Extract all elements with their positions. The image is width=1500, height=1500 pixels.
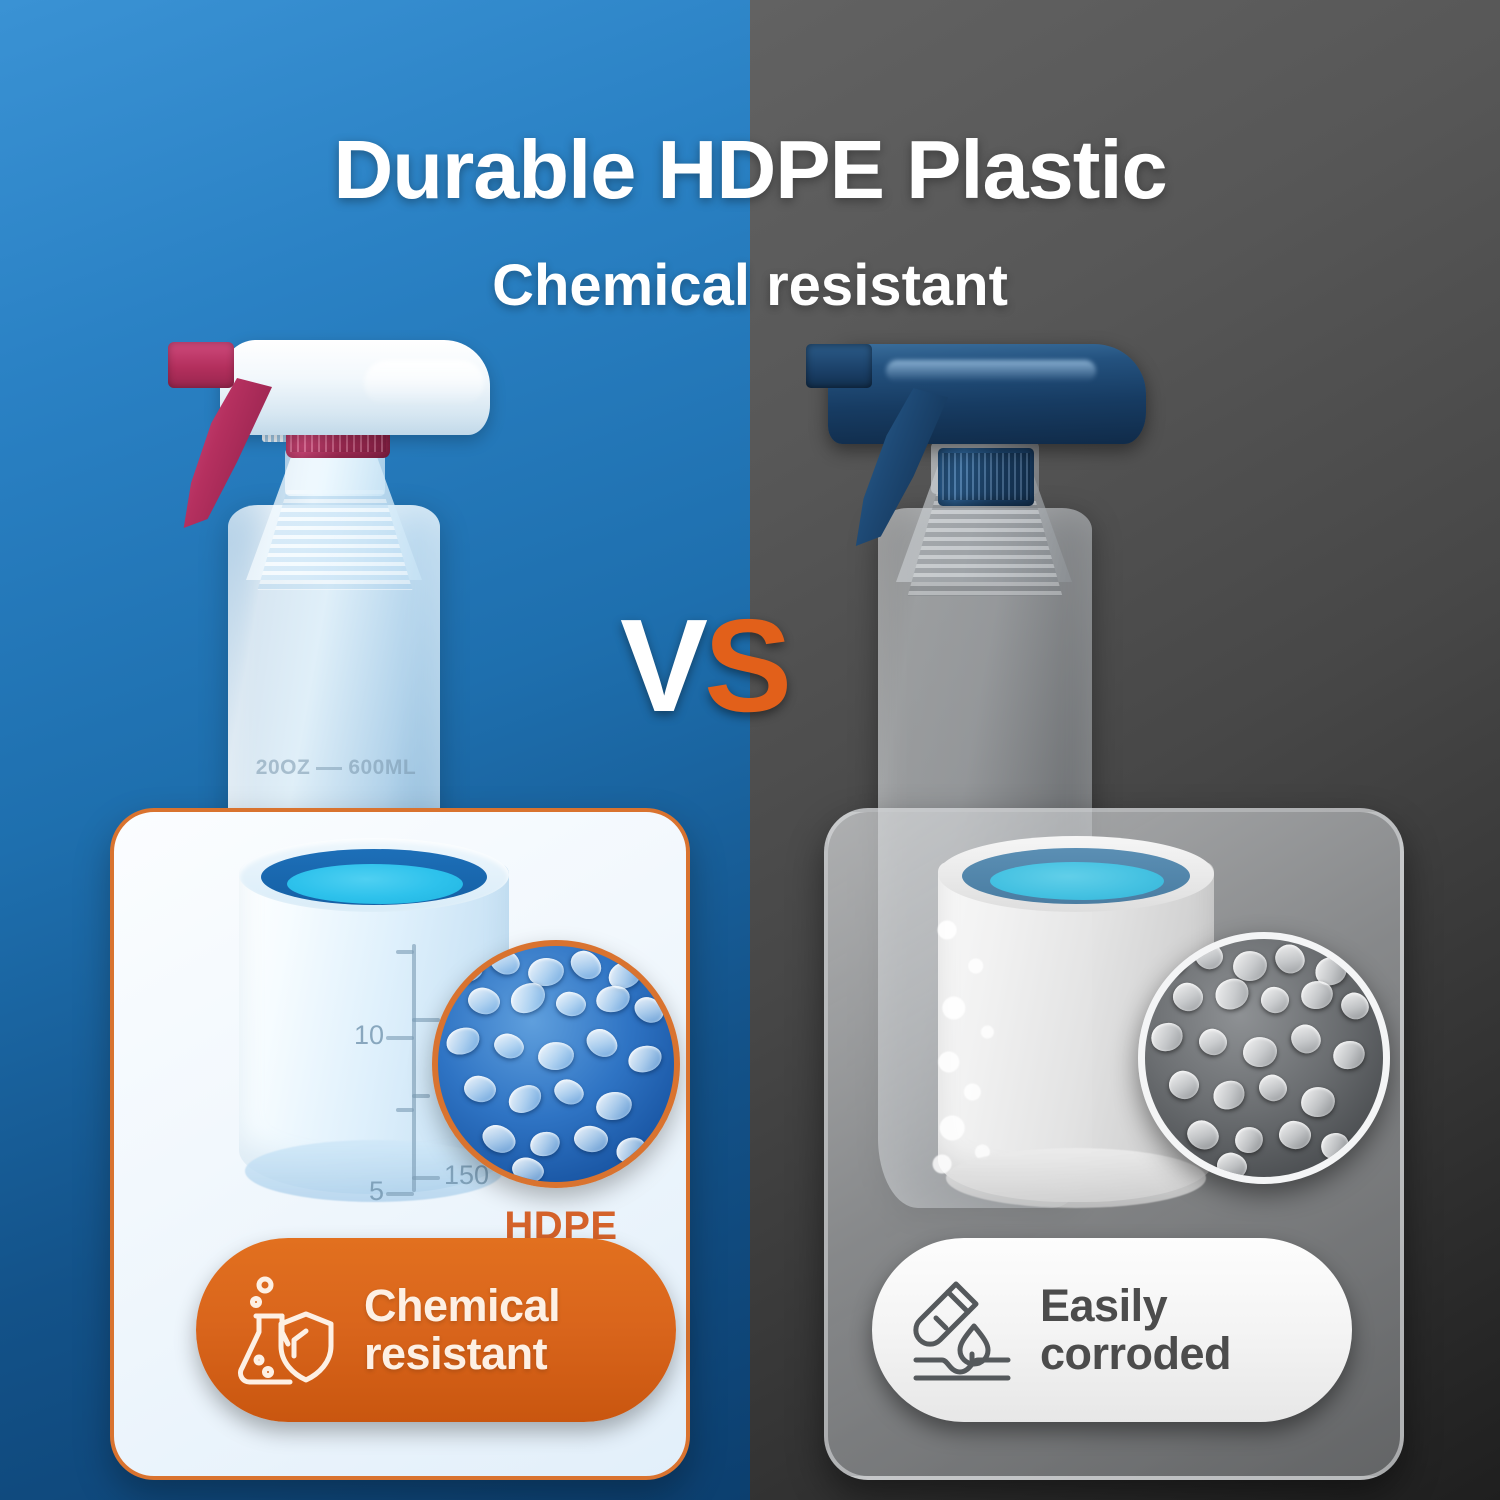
cylinder-base [946, 1148, 1206, 1208]
scale-tick [396, 950, 414, 954]
sprayer-head [828, 344, 1146, 444]
emboss-divider-icon [316, 767, 342, 770]
versus-s: S [704, 592, 788, 739]
badge-line-1: Easily [1040, 1282, 1231, 1330]
page-subtitle: Chemical resistant [0, 252, 1500, 319]
hdpe-pellet-magnifier [432, 940, 680, 1188]
scale-label-ml-150: 150 [444, 1160, 489, 1191]
badge-line-1: Chemical [364, 1282, 560, 1330]
sprayer-nozzle [806, 344, 872, 388]
scale-tick [412, 1176, 440, 1180]
bottle-capacity-emboss: 20OZ 600ML [236, 754, 436, 782]
scale-tick [396, 1108, 414, 1112]
liquid-highlight [287, 864, 463, 904]
sprayer-nozzle [168, 342, 234, 388]
versus-v: V [620, 592, 704, 739]
scale-tick [386, 1192, 414, 1196]
chemical-resistant-badge: Chemical resistant [196, 1238, 676, 1422]
capacity-oz: 20OZ [256, 756, 311, 780]
scale-tick [412, 1094, 430, 1098]
ordinary-pellet-magnifier [1138, 932, 1390, 1184]
badge-label: Chemical resistant [364, 1282, 560, 1377]
sprayer-collar [938, 448, 1034, 506]
scale-label-oz-10: 10 [352, 1020, 384, 1051]
flask-shield-icon [234, 1274, 342, 1386]
versus-badge: VS [620, 600, 788, 732]
badge-label: Easily corroded [1040, 1282, 1231, 1377]
scale-spine [412, 944, 416, 1192]
liquid-highlight [990, 862, 1164, 900]
scale-tick [412, 1018, 440, 1022]
badge-line-2: corroded [1040, 1330, 1231, 1378]
page-title: Durable HDPE Plastic [0, 128, 1500, 213]
product-comparison-image: Durable HDPE Plastic Chemical resistant … [0, 0, 1500, 1500]
easily-corroded-badge: Easily corroded [872, 1238, 1352, 1422]
badge-line-2: resistant [364, 1330, 560, 1378]
headline-container: Durable HDPE Plastic [0, 128, 1500, 213]
corrosion-texture [932, 888, 1016, 1188]
capacity-ml: 600ML [348, 756, 416, 780]
subheadline-container: Chemical resistant [0, 252, 1500, 319]
scale-tick [386, 1036, 414, 1040]
scale-label-oz-5: 5 [352, 1176, 384, 1207]
test-tube-drop-corrosion-icon [910, 1274, 1018, 1386]
